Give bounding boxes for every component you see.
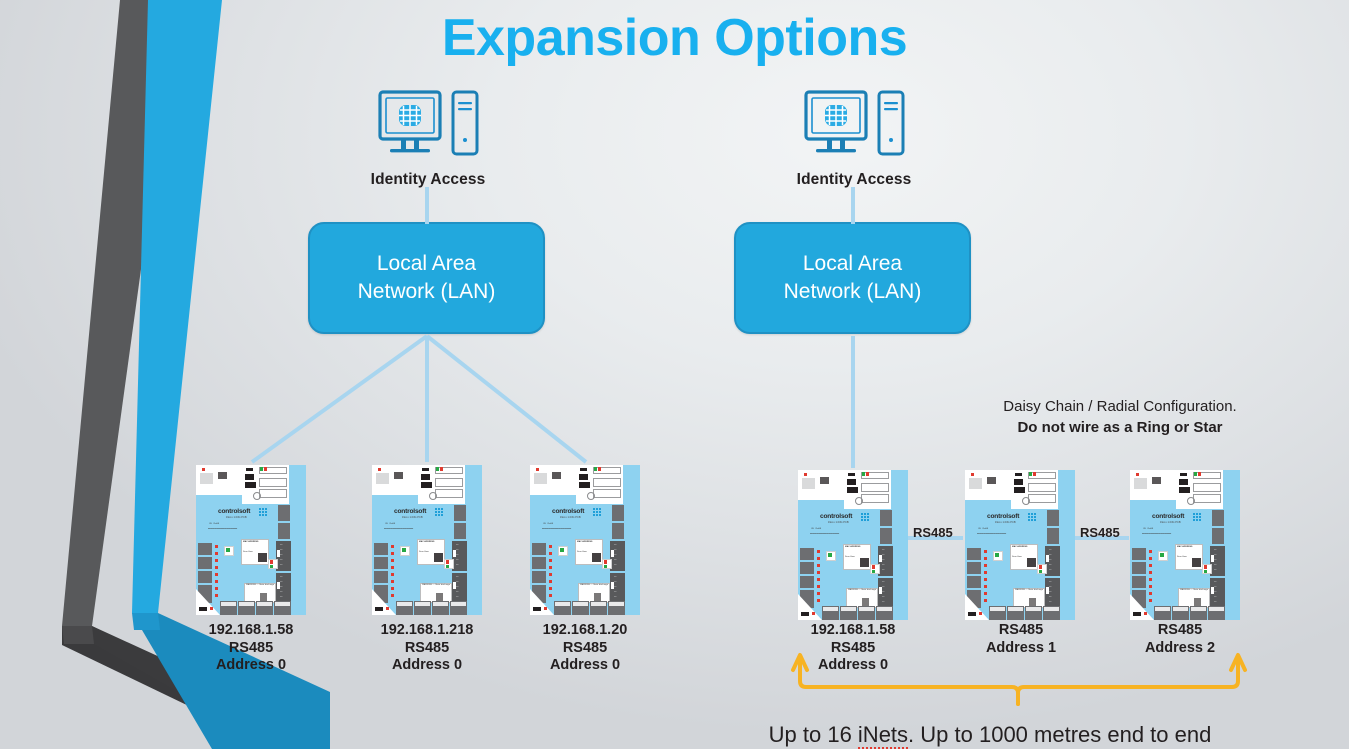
wire-lan-to-device-3: [427, 336, 586, 462]
page-title: Expansion Options: [0, 8, 1349, 68]
lan-label-line1-right: Local Area: [784, 250, 922, 278]
device-ip-3: 192.168.1.20: [495, 622, 675, 640]
rs485-link-label-2: RS485: [1080, 525, 1120, 540]
device-board-4[interactable]: controlsoftiNet-x 1.03G PCBCE RoHS▬▬▬▬▬▬…: [798, 470, 908, 620]
device-bus-5: RS485: [931, 622, 1111, 640]
span-note-before: Up to 16: [769, 722, 858, 747]
device-address-6: Address 2: [1090, 640, 1270, 658]
workstation-icons-left: [328, 85, 528, 165]
workstation-label-right: Identity Access: [754, 171, 954, 189]
device-caption-2: 192.168.1.218 RS485 Address 0: [337, 622, 517, 675]
device-board-6[interactable]: controlsoftiNet-x 1.03G PCBCE RoHS▬▬▬▬▬▬…: [1130, 470, 1240, 620]
device-board-2[interactable]: controlsoftiNet-x 1.03G PCBCE RoHS▬▬▬▬▬▬…: [372, 465, 482, 615]
configuration-note-line2: Do not wire as a Ring or Star: [950, 417, 1290, 438]
workstation-right: Identity Access: [754, 85, 954, 189]
device-caption-1: 192.168.1.58 RS485 Address 0: [161, 622, 341, 675]
device-bus-3: RS485: [495, 640, 675, 658]
workstation-left: Identity Access: [328, 85, 528, 189]
device-caption-3: 192.168.1.20 RS485 Address 0: [495, 622, 675, 675]
device-bus-2: RS485: [337, 640, 517, 658]
device-bus-4: RS485: [763, 640, 943, 658]
configuration-note: Daisy Chain / Radial Configuration. Do n…: [950, 396, 1290, 439]
lan-box-left[interactable]: Local Area Network (LAN): [308, 222, 545, 334]
pc-tower-icon: [877, 90, 905, 160]
device-address-5: Address 1: [931, 640, 1111, 658]
device-address-4: Address 0: [763, 657, 943, 675]
span-note-after: . Up to 1000 metres end to end: [908, 722, 1211, 747]
span-note-misspelled: iNets: [858, 722, 908, 749]
device-bus-1: RS485: [161, 640, 341, 658]
device-ip-2: 192.168.1.218: [337, 622, 517, 640]
device-ip-4: 192.168.1.58: [763, 622, 943, 640]
lan-label-line1-left: Local Area: [358, 250, 496, 278]
monitor-globe-icon: [378, 90, 442, 160]
pc-tower-icon: [451, 90, 479, 160]
rs485-link-label-1: RS485: [913, 525, 953, 540]
workstation-label-left: Identity Access: [328, 171, 528, 189]
lan-label-line2-left: Network (LAN): [358, 278, 496, 306]
device-caption-4: 192.168.1.58 RS485 Address 0: [763, 622, 943, 675]
configuration-note-line1: Daisy Chain / Radial Configuration.: [950, 396, 1290, 417]
device-address-1: Address 0: [161, 657, 341, 675]
device-board-5[interactable]: controlsoftiNet-x 1.03G PCBCE RoHS▬▬▬▬▬▬…: [965, 470, 1075, 620]
lan-box-right[interactable]: Local Area Network (LAN): [734, 222, 971, 334]
device-address-2: Address 0: [337, 657, 517, 675]
slide-canvas: Expansion Options Identity Acc: [0, 0, 1349, 749]
workstation-icons-right: [754, 85, 954, 165]
device-board-1[interactable]: controlsoftiNet-x 1.03G PCBCE RoHS▬▬▬▬▬▬…: [196, 465, 306, 615]
device-bus-6: RS485: [1090, 622, 1270, 640]
lan-label-line2-right: Network (LAN): [784, 278, 922, 306]
device-board-3[interactable]: controlsoftiNet-x 1.03G PCBCE RoHS▬▬▬▬▬▬…: [530, 465, 640, 615]
device-caption-6: RS485 Address 2: [1090, 622, 1270, 657]
monitor-globe-icon: [804, 90, 868, 160]
device-address-3: Address 0: [495, 657, 675, 675]
span-note-caption: Up to 16 iNets. Up to 1000 metres end to…: [640, 722, 1340, 748]
device-caption-5: RS485 Address 1: [931, 622, 1111, 657]
device-ip-1: 192.168.1.58: [161, 622, 341, 640]
